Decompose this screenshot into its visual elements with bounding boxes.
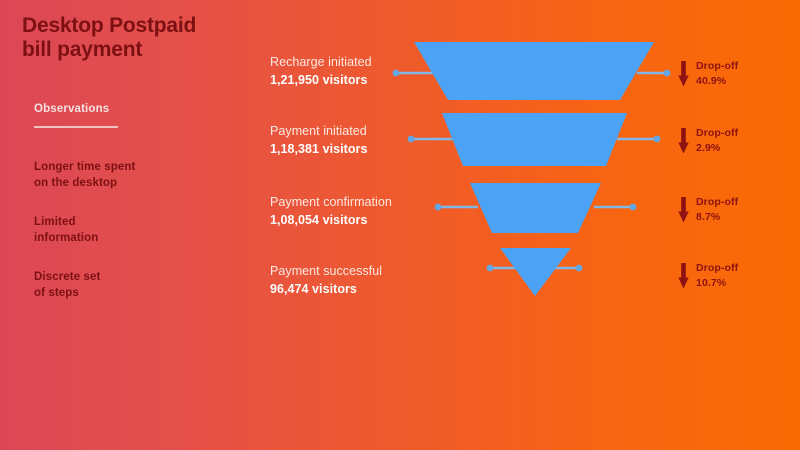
arrow-down-icon — [678, 263, 689, 289]
stage-label-1: Recharge initiated 1,21,950 visitors — [270, 54, 372, 89]
funnel-segment-2 — [442, 113, 627, 166]
dropoff-stage-4: Drop-off 10.7% — [678, 262, 738, 290]
stage-label-4: Payment successful 96,474 visitors — [270, 263, 382, 298]
arrow-down-icon — [678, 128, 689, 154]
funnel-chart: Recharge initiated 1,21,950 visitors Pay… — [0, 0, 800, 450]
stage-name: Payment successful — [270, 263, 382, 279]
dropoff-text: Drop-off 8.7% — [696, 196, 738, 224]
dropoff-percent: 8.7% — [696, 211, 738, 225]
dropoff-title: Drop-off — [696, 196, 738, 210]
dropoff-percent: 40.9% — [696, 75, 738, 89]
dropoff-percent: 2.9% — [696, 142, 738, 156]
stage-name: Recharge initiated — [270, 54, 372, 70]
dropoff-percent: 10.7% — [696, 277, 738, 291]
funnel-segment-3 — [470, 183, 601, 233]
stage-name: Payment confirmation — [270, 194, 392, 210]
stage-value: 1,18,381 visitors — [270, 141, 367, 157]
stage-value: 1,08,054 visitors — [270, 212, 392, 228]
dropoff-text: Drop-off 2.9% — [696, 127, 738, 155]
dropoff-text: Drop-off 10.7% — [696, 262, 738, 290]
dropoff-stage-3: Drop-off 8.7% — [678, 196, 738, 224]
dropoff-text: Drop-off 40.9% — [696, 60, 738, 88]
stage-value: 1,21,950 visitors — [270, 72, 372, 88]
stage-value: 96,474 visitors — [270, 281, 382, 297]
stage-label-2: Payment initiated 1,18,381 visitors — [270, 123, 367, 158]
dropoff-title: Drop-off — [696, 262, 738, 276]
dropoff-stage-2: Drop-off 2.9% — [678, 127, 738, 155]
stage-name: Payment initiated — [270, 123, 367, 139]
slide-canvas: Desktop Postpaid bill payment Observatio… — [0, 0, 800, 450]
dropoff-title: Drop-off — [696, 60, 738, 74]
funnel-segment-4 — [500, 248, 571, 296]
arrow-down-icon — [678, 197, 689, 223]
stage-label-3: Payment confirmation 1,08,054 visitors — [270, 194, 392, 229]
dropoff-stage-1: Drop-off 40.9% — [678, 60, 738, 88]
arrow-down-icon — [678, 61, 689, 87]
funnel-segment-1 — [414, 42, 654, 100]
dropoff-title: Drop-off — [696, 127, 738, 141]
